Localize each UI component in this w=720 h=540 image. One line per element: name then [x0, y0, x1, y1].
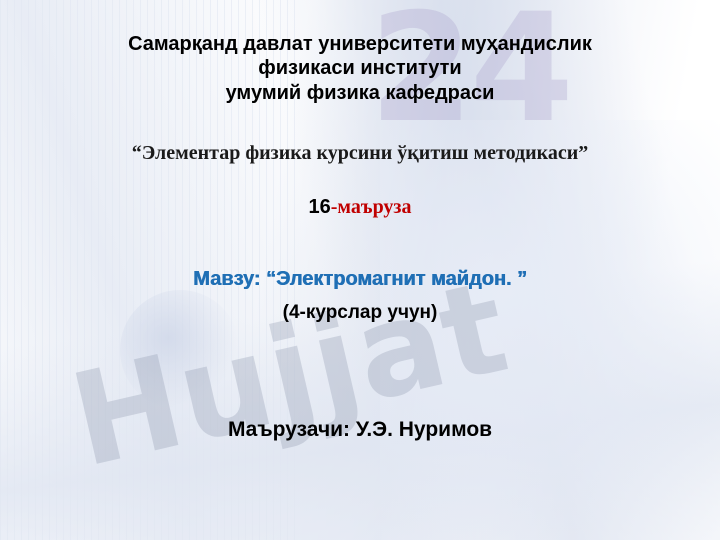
title-line-3: умумий физика кафедраси	[0, 81, 720, 105]
lecture-word: -маъруза	[331, 196, 412, 218]
title-line-2: физикаси институти	[258, 57, 461, 79]
slide-canvas: 24 Hujjat Самарқанд давлат университети …	[0, 0, 720, 540]
topic-tail: . ”	[506, 268, 527, 290]
slide-title: Самарқанд давлат университети муҳандисли…	[0, 32, 720, 105]
presenter-line: Маърузачи: У.Э. Нуримов	[0, 418, 720, 442]
slide-content: Самарқанд давлат университети муҳандисли…	[0, 0, 720, 540]
lecture-number-line: 16-маъруза	[0, 196, 720, 219]
title-line-1: Самарқанд давлат университети муҳандисли…	[128, 33, 592, 55]
topic-text: Мавзу: “Электромагнит майдон	[193, 268, 506, 290]
course-name: “Элементар физика курсини ўқитиш методик…	[0, 142, 720, 165]
audience-line: (4-курслар учун)	[0, 302, 720, 324]
topic-line: Мавзу: “Электромагнит майдон. ”	[0, 268, 720, 291]
lecture-number: 16	[309, 196, 331, 218]
